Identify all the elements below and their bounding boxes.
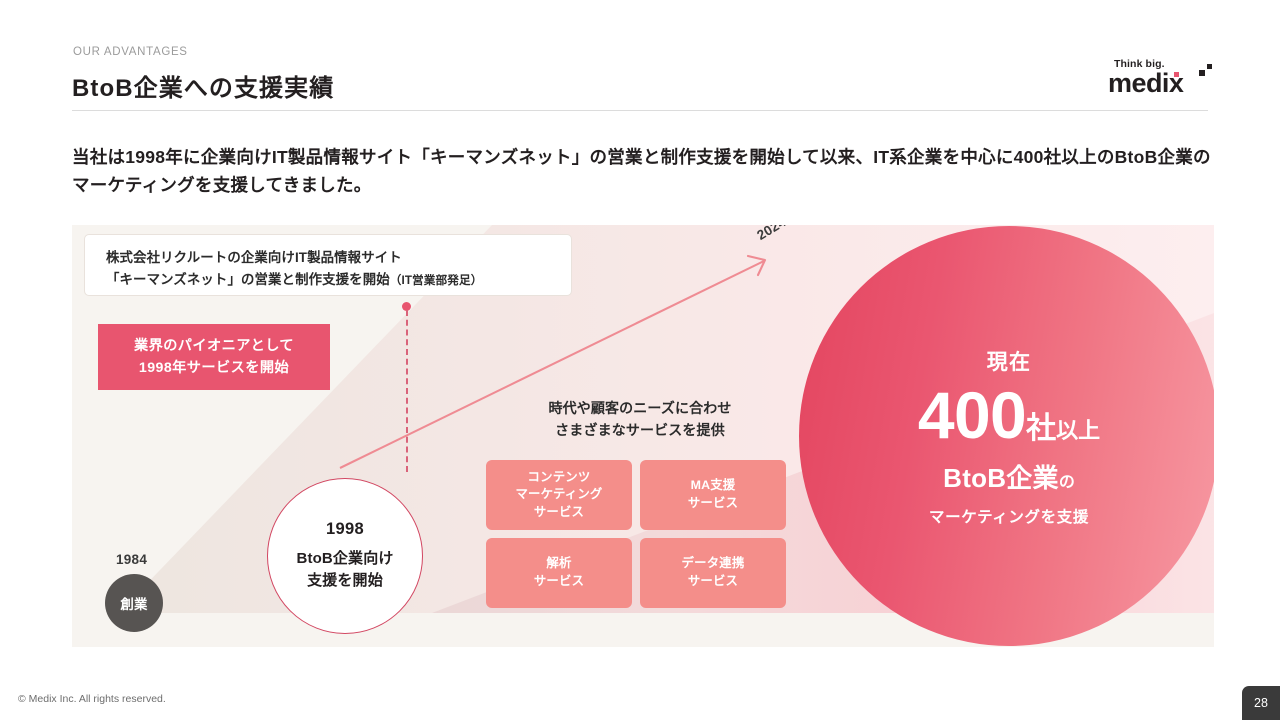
current-status-circle: 現在 400 社 以上 BtoB企業 の マーケティングを支援: [799, 226, 1214, 646]
milestone-1998-circle: 1998 BtoB企業向け 支援を開始: [267, 478, 423, 634]
founding-label: 創業: [120, 593, 147, 613]
page-number-tab: 28: [1242, 686, 1280, 720]
logo-square-large-icon: [1199, 70, 1205, 76]
founding-year-label: 1984: [116, 552, 147, 567]
keymans-net-callout: 株式会社リクルートの企業向けIT製品情報サイト 「キーマンズネット」の営業と制作…: [84, 234, 572, 296]
pioneer-badge-line-2: 1998年サービスを開始: [139, 357, 289, 379]
callout-line-2: 「キーマンズネット」の営業と制作支援を開始: [106, 272, 390, 287]
current-count-suffix: 以上: [1056, 420, 1100, 442]
founding-circle: 創業: [105, 574, 163, 632]
page-number: 28: [1254, 696, 1268, 710]
service-box-grid: コンテンツ マーケティング サービス MA支援 サービス 解析 サービス データ…: [486, 460, 786, 615]
current-number-row: 400 社 以上: [918, 382, 1100, 448]
medix-logo: Think big. medix: [1108, 58, 1212, 98]
current-segment-row: BtoB企業 の: [943, 458, 1075, 495]
service-box[interactable]: データ連携 サービス: [640, 538, 786, 608]
title-divider: [72, 110, 1208, 111]
services-heading-line-2: さまざまなサービスを提供: [524, 419, 756, 441]
logo-i-dot-icon: [1174, 72, 1179, 77]
callout-line-1: 株式会社リクルートの企業向けIT製品情報サイト: [106, 247, 571, 269]
services-heading-line-1: 時代や顧客のニーズに合わせ: [524, 397, 756, 419]
milestone-1998-line-1: BtoB企業向け: [296, 548, 393, 570]
callout-line-2-note: （IT営業部発足）: [390, 274, 483, 287]
service-box[interactable]: MA支援 サービス: [640, 460, 786, 530]
page-title: BtoB企業への支援実績: [72, 68, 334, 103]
pioneer-badge-line-1: 業界のパイオニアとして: [134, 335, 294, 357]
callout-dashed-connector: [406, 310, 408, 472]
service-box[interactable]: コンテンツ マーケティング サービス: [486, 460, 632, 530]
pioneer-badge: 業界のパイオニアとして 1998年サービスを開始: [98, 324, 330, 390]
eyebrow-label: OUR ADVANTAGES: [73, 46, 188, 58]
copyright-notice: © Medix Inc. All rights reserved.: [18, 693, 166, 705]
milestone-1998-line-2: 支援を開始: [307, 570, 383, 592]
service-box[interactable]: 解析 サービス: [486, 538, 632, 608]
current-detail: マーケティングを支援: [929, 505, 1089, 527]
current-count-unit: 社: [1026, 414, 1056, 444]
timeline-diagram-panel: 2024 株式会社リクルートの企業向けIT製品情報サイト 「キーマンズネット」の…: [72, 225, 1214, 647]
current-segment: BtoB企業: [943, 458, 1059, 495]
milestone-1998-year: 1998: [326, 520, 364, 539]
logo-square-small-icon: [1207, 64, 1212, 69]
logo-wordmark: medix: [1108, 70, 1183, 97]
current-segment-particle: の: [1059, 468, 1075, 492]
callout-line-2-wrap: 「キーマンズネット」の営業と制作支援を開始（IT営業部発足）: [106, 269, 571, 291]
current-now-label: 現在: [987, 346, 1032, 376]
lead-paragraph: 当社は1998年に企業向けIT製品情報サイト「キーマンズネット」の営業と制作支援…: [72, 143, 1212, 200]
current-company-count: 400: [918, 382, 1026, 448]
services-heading: 時代や顧客のニーズに合わせ さまざまなサービスを提供: [524, 397, 756, 442]
